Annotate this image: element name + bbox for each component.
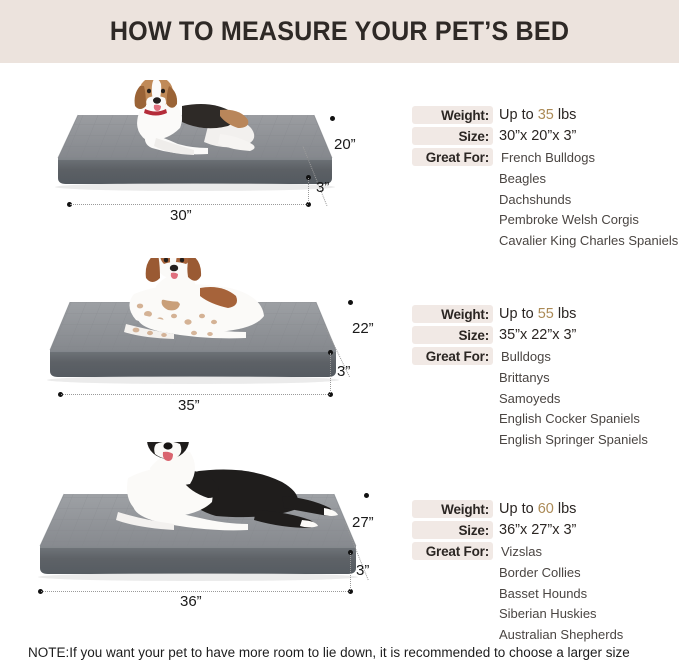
bed-illustration-medium <box>44 258 354 413</box>
breed-item: English Cocker Spaniels <box>499 409 674 430</box>
weight-number: 35 <box>538 107 554 123</box>
breed-item: Pembroke Welsh Corgis <box>499 210 674 231</box>
great-for-label: Great For: <box>412 148 493 166</box>
dim-label-height: 3” <box>356 562 369 579</box>
weight-value: Up to 60 lbs <box>499 500 576 518</box>
bed-info-panel: Weight: Up to 55 lbs Size: 35”x 22”x 3” … <box>412 305 674 450</box>
weight-line: Weight: Up to 60 lbs <box>412 500 674 521</box>
breed-item: Australian Shepherds <box>499 625 674 646</box>
breed-item: Dachshunds <box>499 190 674 211</box>
bed-info-panel: Weight: Up to 60 lbs Size: 36”x 27”x 3” … <box>412 500 674 645</box>
bed-svg <box>52 80 342 215</box>
dim-line-length <box>61 394 330 395</box>
weight-value: Up to 35 lbs <box>499 106 576 124</box>
weight-prefix: Up to <box>499 107 538 123</box>
weight-label: Weight: <box>412 305 493 323</box>
page-title: HOW TO MEASURE YOUR PET’S BED <box>24 0 655 63</box>
breed-list: Beagles Dachshunds Pembroke Welsh Corgis… <box>499 169 674 251</box>
breed-item: Beagles <box>499 169 674 190</box>
weight-label: Weight: <box>412 500 493 518</box>
weight-prefix: Up to <box>499 501 538 517</box>
size-value: 36”x 27”x 3” <box>499 521 576 539</box>
dim-label-width: 20” <box>334 136 356 153</box>
great-for-line: Great For: French Bulldogs <box>412 148 674 169</box>
dim-line-length <box>41 591 350 592</box>
size-label: Size: <box>412 326 493 344</box>
great-for-label: Great For: <box>412 542 493 560</box>
size-value: 35”x 22”x 3” <box>499 326 576 344</box>
great-for-line: Great For: Vizslas <box>412 542 674 563</box>
weight-suffix: lbs <box>554 107 577 123</box>
breed-item: Brittanys <box>499 368 674 389</box>
breed-item: Samoyeds <box>499 389 674 410</box>
bed-illustration-small <box>52 80 342 220</box>
dim-label-length: 30” <box>170 207 192 224</box>
weight-number: 60 <box>538 501 554 517</box>
dim-line-length <box>70 204 308 205</box>
weight-suffix: lbs <box>554 306 577 322</box>
size-line: Size: 30”x 20”x 3” <box>412 127 674 148</box>
weight-number: 55 <box>538 306 554 322</box>
size-label: Size: <box>412 521 493 539</box>
size-line: Size: 35”x 22”x 3” <box>412 326 674 347</box>
dim-line-height <box>350 553 351 590</box>
weight-suffix: lbs <box>554 501 577 517</box>
dim-dot <box>348 300 353 305</box>
breed-item: Vizslas <box>499 542 542 563</box>
bed-illustration-large <box>34 442 374 612</box>
weight-label: Weight: <box>412 106 493 124</box>
dim-label-height: 3” <box>316 179 329 196</box>
great-for-line: Great For: Bulldogs <box>412 347 674 368</box>
size-label: Size: <box>412 127 493 145</box>
weight-line: Weight: Up to 35 lbs <box>412 106 674 127</box>
breed-list: Border Collies Basset Hounds Siberian Hu… <box>499 563 674 645</box>
bed-svg <box>34 442 374 607</box>
breed-item: Bulldogs <box>499 347 551 368</box>
breed-item: French Bulldogs <box>499 148 595 169</box>
size-value: 30”x 20”x 3” <box>499 127 576 145</box>
dim-dot <box>330 116 335 121</box>
footer-note: NOTE:If you want your pet to have more r… <box>28 645 630 660</box>
dim-line-height <box>308 178 309 203</box>
bed-size-row: 20” 3” 30” Weight: Up to 35 lbs Size: 30… <box>0 70 679 235</box>
bed-size-row: 22” 3” 35” Weight: Up to 55 lbs Size: 35… <box>0 248 679 420</box>
bed-svg <box>44 258 354 408</box>
weight-value: Up to 55 lbs <box>499 305 576 323</box>
bed-info-panel: Weight: Up to 35 lbs Size: 30”x 20”x 3” … <box>412 106 674 251</box>
breed-item: Basset Hounds <box>499 584 674 605</box>
dim-dot <box>364 493 369 498</box>
dim-label-length: 36” <box>180 593 202 610</box>
dim-label-length: 35” <box>178 397 200 414</box>
dim-label-width: 22” <box>352 320 374 337</box>
dim-label-height: 3” <box>337 363 350 380</box>
breed-item: Border Collies <box>499 563 674 584</box>
great-for-label: Great For: <box>412 347 493 365</box>
weight-prefix: Up to <box>499 306 538 322</box>
dim-line-height <box>330 353 331 393</box>
size-line: Size: 36”x 27”x 3” <box>412 521 674 542</box>
dim-label-width: 27” <box>352 514 374 531</box>
breed-item: Siberian Huskies <box>499 604 674 625</box>
bed-size-row: 27” 3” 36” Weight: Up to 60 lbs Size: 36… <box>0 432 679 617</box>
weight-line: Weight: Up to 55 lbs <box>412 305 674 326</box>
